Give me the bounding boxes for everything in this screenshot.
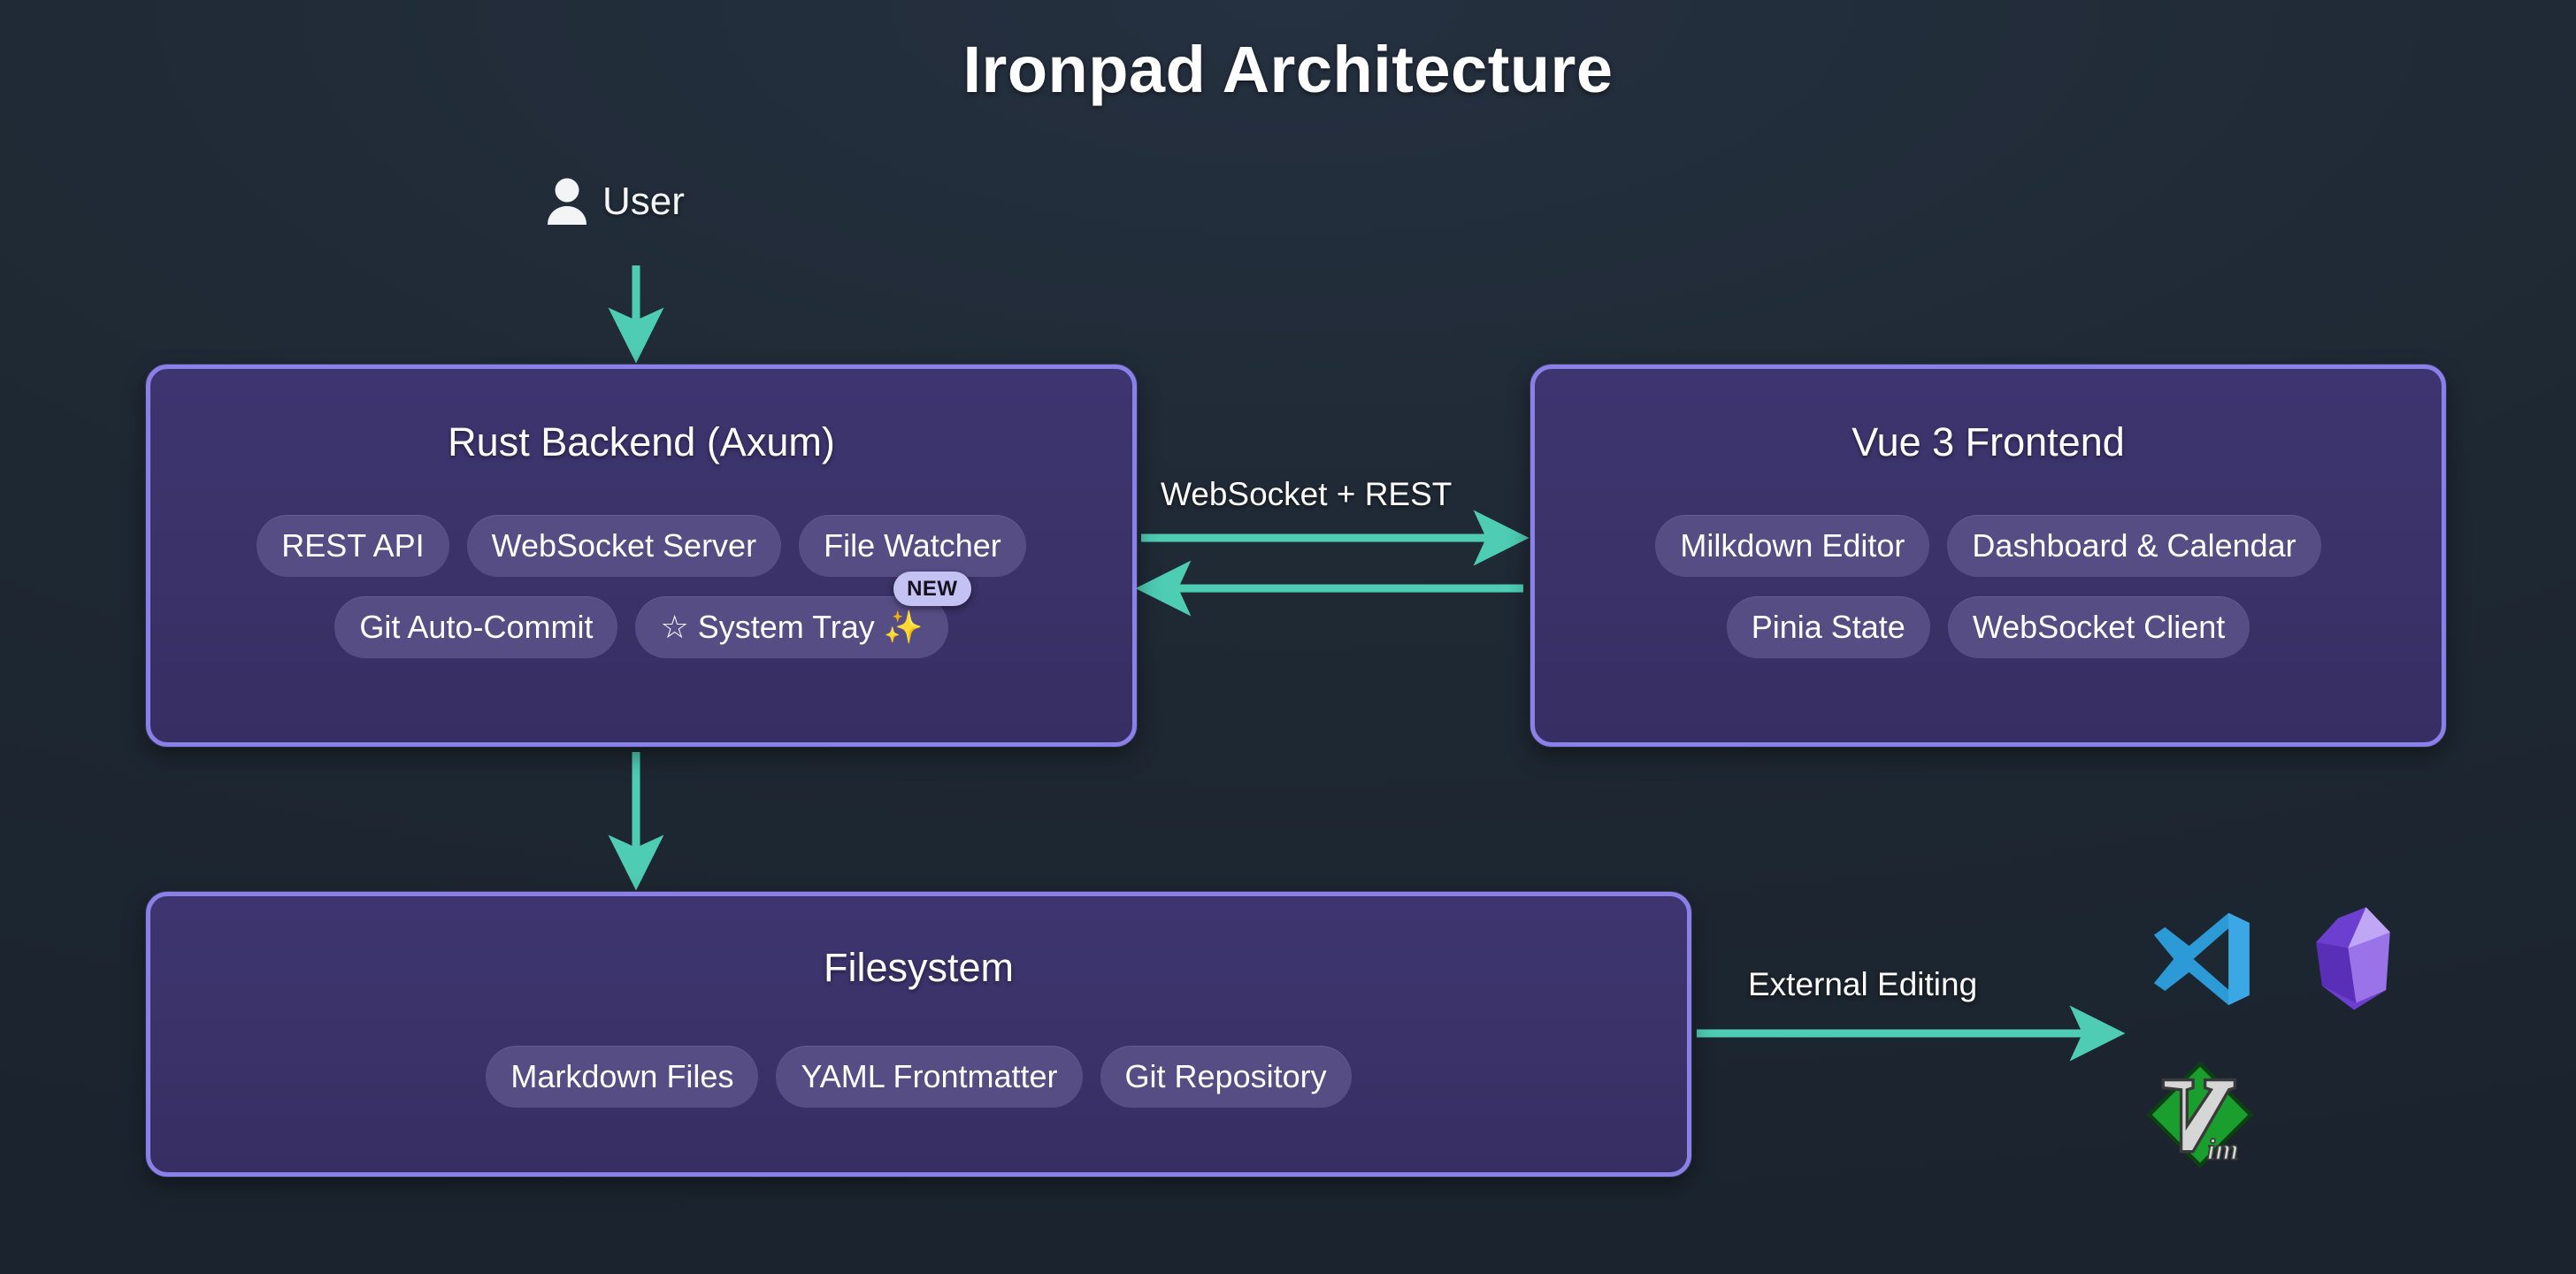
node-title-rust-backend: Rust Backend (Axum) (150, 422, 1132, 462)
chip-git-auto-commit[interactable]: Git Auto-Commit (334, 596, 617, 658)
chip-row: Markdown Files YAML Frontmatter Git Repo… (150, 1046, 1687, 1108)
chip-yaml-frontmatter[interactable]: YAML Frontmatter (776, 1046, 1082, 1108)
chip-row: REST API WebSocket Server File Watcher (150, 515, 1132, 577)
vim-logo-icon: im (2145, 1060, 2255, 1170)
chip-dashboard-calendar[interactable]: Dashboard & Calendar (1947, 515, 2320, 577)
chip-system-tray[interactable]: ☆ System Tray ✨ NEW (635, 596, 947, 658)
chip-file-watcher[interactable]: File Watcher (799, 515, 1026, 577)
node-filesystem[interactable]: Filesystem Markdown Files YAML Frontmatt… (146, 892, 1691, 1177)
page-title: Ironpad Architecture (0, 32, 2576, 107)
chip-markdown-files[interactable]: Markdown Files (486, 1046, 758, 1108)
chip-pinia-state[interactable]: Pinia State (1727, 596, 1930, 658)
chip-row: Git Auto-Commit ☆ System Tray ✨ NEW (150, 596, 1132, 658)
actor-user-label: User (602, 182, 685, 221)
obsidian-logo-icon (2304, 904, 2402, 1014)
node-title-vue-frontend: Vue 3 Frontend (1535, 422, 2442, 462)
svg-text:im: im (2207, 1134, 2239, 1167)
chip-websocket-client[interactable]: WebSocket Client (1948, 596, 2250, 658)
node-title-filesystem: Filesystem (150, 948, 1687, 987)
node-rust-backend[interactable]: Rust Backend (Axum) REST API WebSocket S… (146, 365, 1137, 747)
chip-system-tray-label: ☆ System Tray ✨ (660, 609, 923, 645)
chip-websocket-server[interactable]: WebSocket Server (467, 515, 781, 577)
vscode-logo-icon (2145, 904, 2255, 1014)
node-vue-frontend[interactable]: Vue 3 Frontend Milkdown Editor Dashboard… (1530, 365, 2446, 747)
chip-git-repository[interactable]: Git Repository (1100, 1046, 1352, 1108)
chip-milkdown-editor[interactable]: Milkdown Editor (1655, 515, 1929, 577)
edge-label-websocket-rest: WebSocket + REST (1161, 478, 1452, 510)
chip-rest-api[interactable]: REST API (257, 515, 448, 577)
user-icon (544, 177, 590, 226)
actor-user: User (544, 177, 685, 226)
chip-row: Milkdown Editor Dashboard & Calendar (1535, 515, 2442, 577)
status-badge-new: NEW (893, 572, 971, 606)
edge-label-external-editing: External Editing (1748, 968, 1977, 1001)
chip-row: Pinia State WebSocket Client (1535, 596, 2442, 658)
